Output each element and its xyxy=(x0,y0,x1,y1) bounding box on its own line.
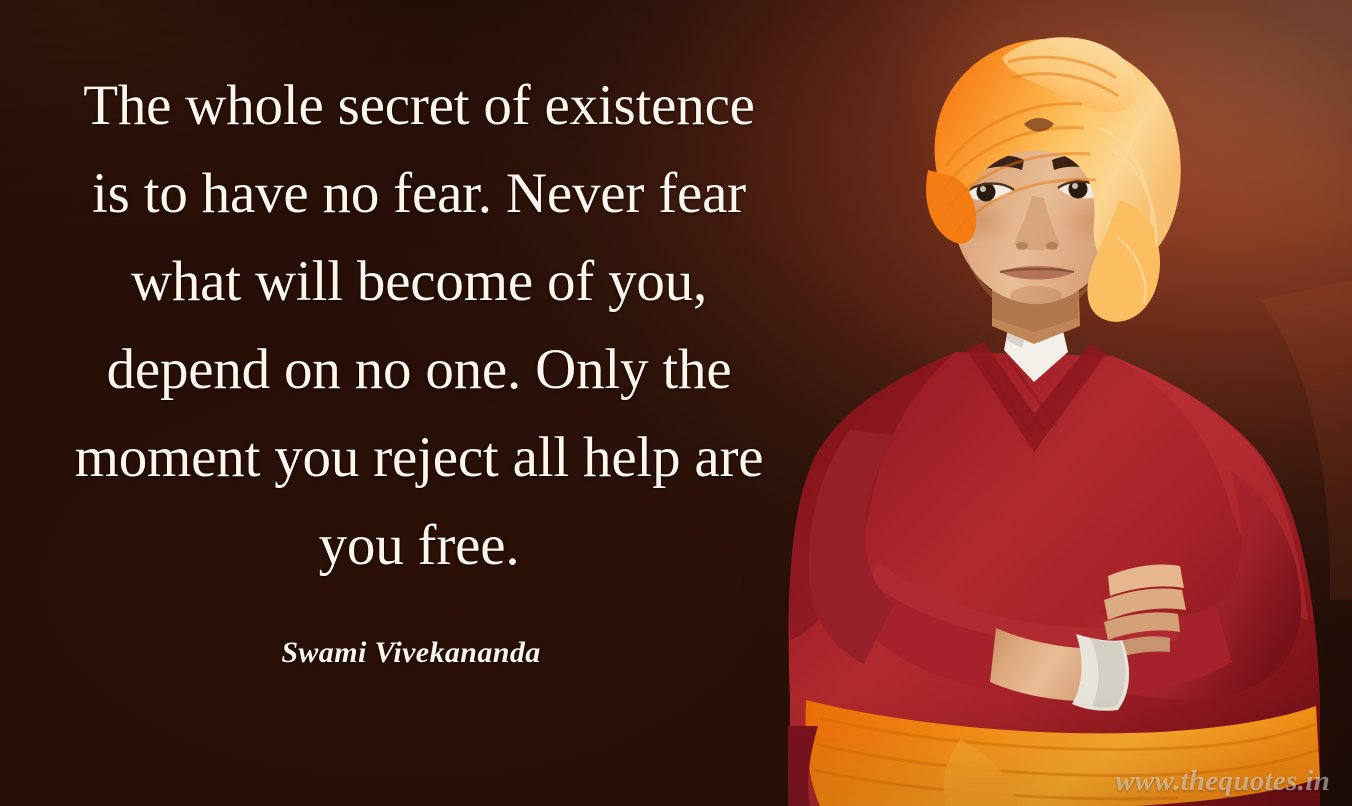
watermark: www.thequotes.in xyxy=(1115,765,1330,798)
author-name: Swami Vivekananda xyxy=(281,636,540,670)
nostril-right xyxy=(1046,242,1058,250)
quote-poster: The whole secret of existence is to have… xyxy=(0,0,1352,806)
quote-block: The whole secret of existence is to have… xyxy=(24,62,814,590)
quote-text: The whole secret of existence is to have… xyxy=(24,62,814,590)
attribution: Swami Vivekananda xyxy=(24,636,814,670)
portrait-illustration xyxy=(760,0,1352,806)
chin-shadow xyxy=(1010,286,1062,306)
nostril-left xyxy=(1016,242,1028,250)
portrait-figure xyxy=(760,0,1352,806)
